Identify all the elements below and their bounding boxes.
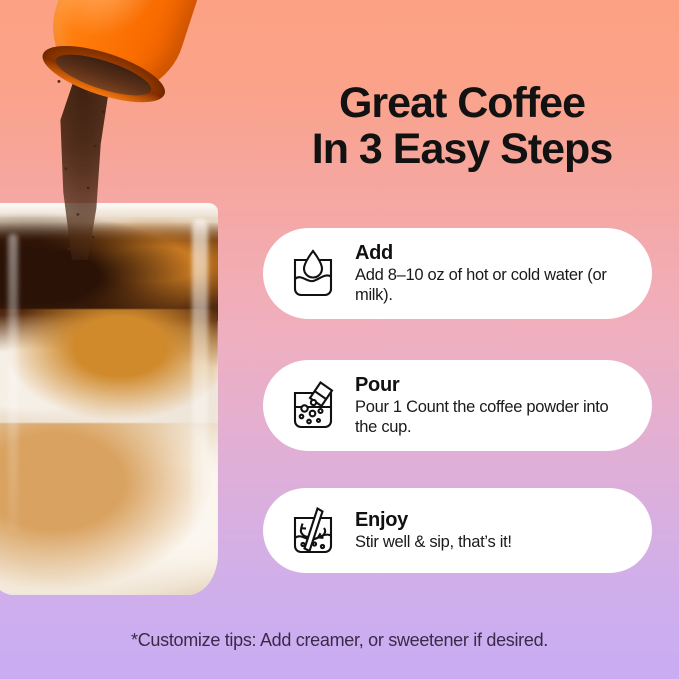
step-card-pour-text: Pour Pour 1 Count the coffee powder into…	[355, 374, 634, 437]
product-photo	[0, 0, 252, 600]
glass-highlight-left	[8, 234, 18, 532]
step-card-enjoy-text: Enjoy Stir well & sip, that’s it!	[355, 509, 634, 553]
step-title: Pour	[355, 374, 634, 396]
step-card-pour[interactable]: Pour Pour 1 Count the coffee powder into…	[263, 360, 652, 451]
footer-note: *Customize tips: Add creamer, or sweeten…	[0, 630, 679, 651]
cup-pour-packet-icon	[285, 378, 341, 434]
cup-water-drop-icon	[285, 246, 341, 302]
glass-highlight-right	[192, 219, 208, 548]
step-description: Stir well & sip, that’s it!	[355, 533, 634, 553]
infographic-canvas: Great Coffee In 3 Easy Steps Add Add 8–1…	[0, 0, 679, 679]
headline-line-2: In 3 Easy Steps	[258, 126, 666, 172]
headline-line-1: Great Coffee	[339, 79, 585, 127]
iced-coffee-glass	[0, 203, 218, 595]
cup-straw-stir-icon	[285, 503, 341, 559]
coffee-milk-swirl	[0, 309, 218, 434]
step-title: Add	[355, 242, 634, 264]
step-card-enjoy[interactable]: Enjoy Stir well & sip, that’s it!	[263, 488, 652, 573]
step-description: Add 8–10 oz of hot or cold water (or mil…	[355, 266, 634, 305]
page-title: Great Coffee In 3 Easy Steps	[258, 80, 666, 172]
step-card-add-text: Add Add 8–10 oz of hot or cold water (or…	[355, 242, 634, 305]
step-card-add[interactable]: Add Add 8–10 oz of hot or cold water (or…	[263, 228, 652, 319]
step-title: Enjoy	[355, 509, 634, 531]
step-description: Pour 1 Count the coffee powder into the …	[355, 398, 634, 437]
milk-layer-bottom	[0, 423, 218, 595]
